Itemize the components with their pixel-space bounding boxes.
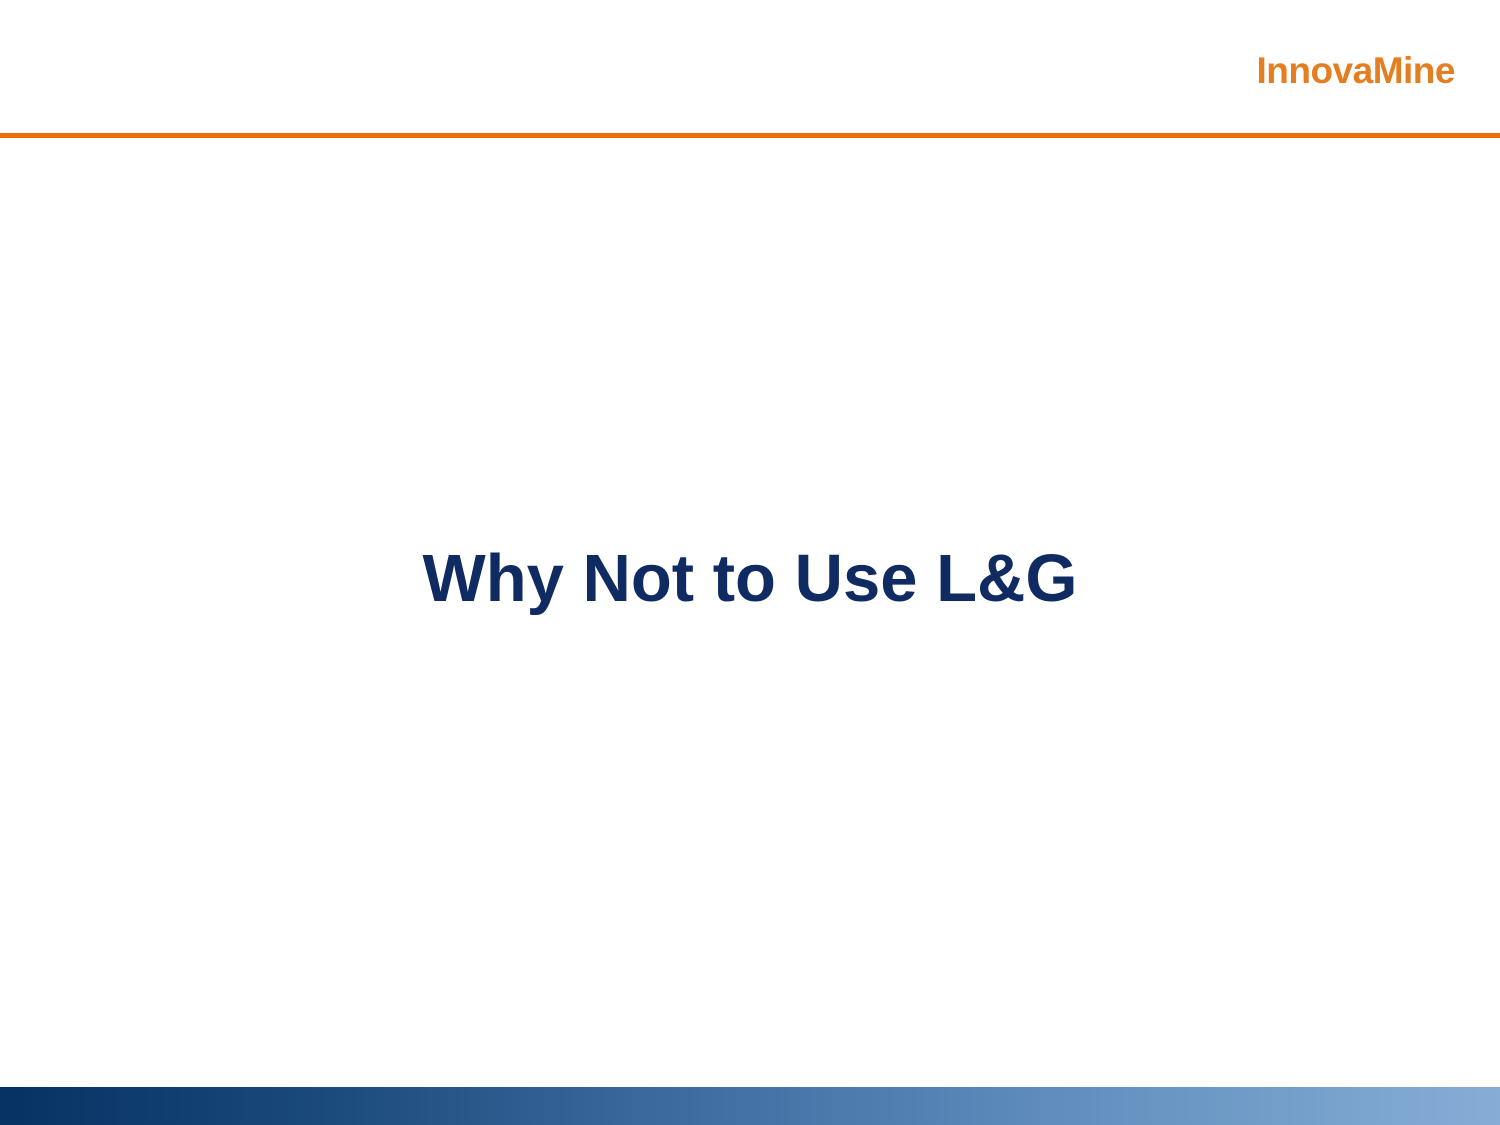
brand-logo: InnovaMine <box>1256 52 1455 89</box>
footer-gradient-bar <box>0 1087 1500 1125</box>
presentation-slide: InnovaMine Why Not to Use L&G <box>0 0 1500 1125</box>
slide-body: Why Not to Use L&G <box>0 138 1500 1087</box>
page-title: Why Not to Use L&G <box>0 545 1500 612</box>
slide-header: InnovaMine <box>0 0 1500 133</box>
